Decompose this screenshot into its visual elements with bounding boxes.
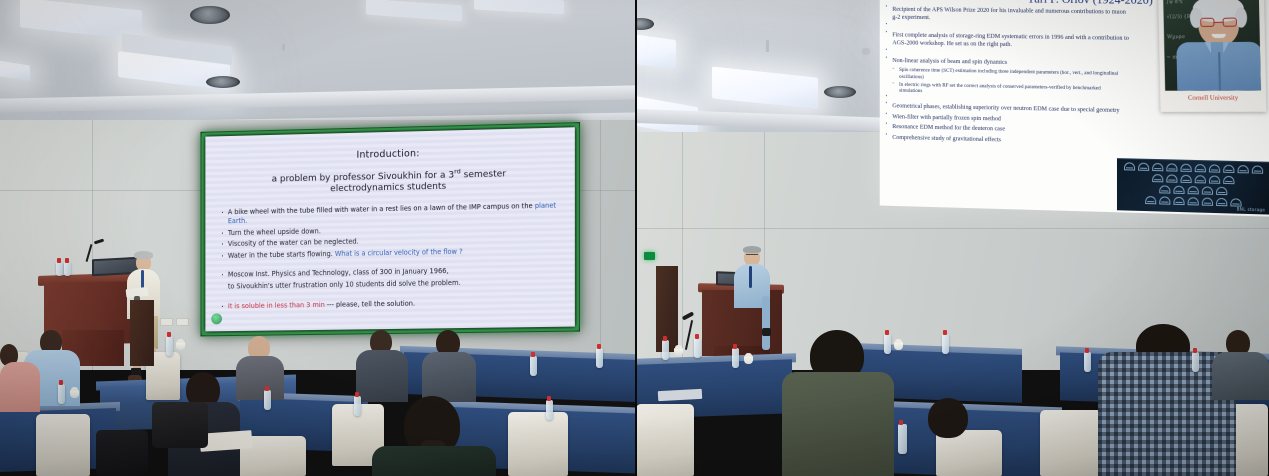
ceiling-panel-light	[0, 59, 30, 82]
lattice-cell	[1166, 163, 1177, 171]
bullet-highlight: What is a circular velocity of the flow …	[335, 247, 463, 257]
led-wall-screen: Introduction: a problem by professor Siv…	[201, 122, 580, 336]
lattice-cell	[1194, 164, 1205, 172]
water-bottle	[530, 356, 537, 376]
teacup	[70, 390, 79, 398]
bullet-text: Water in the tube starts flowing.	[228, 250, 335, 260]
lattice-cell	[1173, 186, 1184, 194]
ceiling-beam	[0, 85, 636, 112]
water-bottle	[264, 390, 271, 410]
portrait-caption: Cornell University	[1165, 95, 1261, 102]
presenter-glasses-icon	[746, 254, 758, 257]
lattice-cell	[1201, 197, 1212, 205]
slide-subtitle-post: semester	[461, 169, 506, 180]
lattice-cell	[1208, 175, 1219, 183]
water-bottle	[732, 348, 739, 368]
audience-head	[928, 398, 968, 438]
bullet-text: --- please, tell the solution.	[325, 299, 415, 308]
backpack	[96, 430, 148, 476]
water-bottle	[662, 340, 669, 360]
chair	[508, 412, 568, 476]
audience-torso	[372, 446, 496, 476]
water-bottle	[1084, 352, 1091, 372]
lattice-cell	[1251, 165, 1262, 173]
lattice-row	[1117, 184, 1269, 196]
slide-subtitle-line2: electrodynamics students	[330, 182, 446, 195]
wall-panel-dark	[130, 300, 154, 366]
water-bottle	[898, 424, 907, 454]
lattice-cell	[1152, 174, 1163, 182]
audience-torso	[356, 350, 408, 402]
ceiling-left	[0, 0, 636, 132]
wall-seam	[636, 228, 1269, 229]
portrait-collar	[1223, 42, 1229, 53]
bullet-text: Moscow Inst. Physics and Technology, cla…	[228, 267, 449, 279]
water-bottle	[64, 262, 71, 276]
lattice-cell	[1216, 198, 1227, 206]
bullet-text: to Sivoukhin's utter frustration only 10…	[228, 279, 461, 291]
teacup	[674, 348, 683, 356]
lattice-cell	[1187, 186, 1198, 194]
presenter-hair	[134, 251, 153, 259]
lattice-row	[1117, 173, 1269, 185]
water-bottle	[884, 334, 891, 354]
water-bottle	[58, 384, 65, 404]
exit-sign	[644, 252, 655, 260]
sprinkler-head	[282, 44, 285, 51]
slide-bullet-list: A bike wheel with the tube filled with w…	[219, 201, 561, 312]
lattice-cell	[1159, 196, 1170, 204]
bullet-text: Viscosity of the water can be neglected.	[228, 238, 359, 248]
projection-screen: Yuri F. Orlov (1924-2020) Recipient of t…	[880, 0, 1269, 217]
ceiling-vent	[636, 18, 654, 30]
lattice-diagram-panel: BNL storage	[1117, 158, 1269, 214]
presenter-wristwatch	[762, 328, 771, 336]
ceiling-vent	[190, 6, 230, 24]
lattice-cell	[1216, 187, 1227, 195]
ceiling-vent	[206, 76, 240, 88]
teacup	[744, 356, 753, 364]
lattice-row	[1117, 162, 1269, 174]
bullet-text: A bike wheel with the tube filled with w…	[228, 201, 535, 215]
water-bottle	[56, 262, 63, 276]
lattice-cell	[1159, 185, 1170, 193]
lattice-cell	[1223, 165, 1234, 173]
wall-seam	[600, 120, 601, 370]
water-bottle	[942, 334, 949, 354]
lattice-cell	[1138, 163, 1149, 171]
left-slide-content: Introduction: a problem by professor Siv…	[205, 127, 574, 331]
chair	[1040, 410, 1102, 476]
audience-torso	[0, 362, 40, 412]
portrait-glasses-icon	[1200, 18, 1237, 27]
backpack	[152, 402, 208, 448]
slide-bullet: Recipient of the APS Wilson Prize 2020 f…	[886, 6, 1130, 25]
portrait-collar	[1205, 42, 1211, 53]
portrait-smile	[1212, 34, 1226, 38]
lattice-cell	[1237, 165, 1248, 173]
water-bottle	[1192, 352, 1199, 372]
sprinkler-head	[862, 48, 870, 55]
chalk-formula: ∫ψ d³x	[1166, 0, 1182, 5]
ceiling-vent	[824, 86, 856, 98]
screen-corner-logo-icon	[211, 313, 222, 324]
teacup	[894, 342, 903, 350]
wall-seam	[682, 132, 683, 370]
lattice-cell	[1124, 162, 1135, 170]
wall-outlet	[176, 318, 189, 326]
presenter-arm	[762, 296, 770, 350]
screenshot-root: Introduction: a problem by professor Siv…	[0, 0, 1269, 476]
sprinkler-head	[766, 40, 769, 52]
slide-subtitle: a problem by professor Sivoukhin for a 3…	[219, 165, 561, 198]
lattice-cell	[1145, 196, 1156, 204]
water-bottle	[354, 396, 361, 416]
audience-torso	[236, 356, 284, 400]
photo-divider	[635, 0, 637, 476]
lattice-cell	[1180, 175, 1191, 183]
right-slide-content: Yuri F. Orlov (1924-2020) Recipient of t…	[880, 0, 1269, 217]
audience-torso	[782, 372, 894, 476]
left-conference-photo: Introduction: a problem by professor Siv…	[0, 0, 636, 476]
ceiling-panel-light	[636, 32, 676, 70]
bullet-text: Turn the wheel upside down.	[228, 227, 321, 237]
orlov-photo: ∫ψ d³x √(2/3) {R₁(ζσ)} Wµνρσ ~ mγ⁴ μ¹	[1163, 0, 1261, 91]
chalk-formula: Wµνρσ	[1167, 34, 1185, 40]
lattice-panel-tag: BNL storage	[1237, 207, 1265, 213]
chair	[36, 414, 90, 476]
water-bottle	[546, 400, 553, 420]
lattice-cell	[1201, 186, 1212, 194]
lattice-row	[1117, 195, 1269, 207]
lattice-cell	[1208, 164, 1219, 172]
water-bottle	[166, 336, 173, 356]
ceiling-panel-light-dim	[474, 0, 564, 14]
wall-outlet	[160, 318, 173, 326]
ceiling-panel-light	[712, 66, 818, 109]
lattice-cell	[1223, 176, 1234, 184]
audience-torso	[1212, 352, 1269, 400]
water-bottle	[694, 338, 701, 358]
bullet-highlight: It is soluble in less than 3 min	[228, 301, 325, 310]
lattice-cell	[1194, 175, 1205, 183]
presenter-hair	[743, 246, 761, 253]
lattice-cell	[1187, 197, 1198, 205]
ceiling-panel-light-dim	[366, 0, 462, 21]
lattice-cell	[1173, 197, 1184, 205]
lattice-cell	[1166, 174, 1177, 182]
water-bottle	[596, 348, 603, 368]
slide-title: Introduction:	[219, 145, 561, 164]
lattice-cell	[1180, 164, 1191, 172]
presenter-lanyard	[749, 266, 752, 288]
lattice-cell	[1152, 163, 1163, 171]
audience-torso	[422, 352, 476, 402]
slide-bullet: First complete analysis of storage-ring …	[886, 31, 1130, 50]
teacup	[176, 342, 185, 350]
lattice-cell	[1230, 198, 1241, 206]
chair	[636, 404, 694, 476]
right-conference-photo: Yuri F. Orlov (1924-2020) Recipient of t…	[636, 0, 1269, 476]
orlov-portrait-card: ∫ψ d³x √(2/3) {R₁(ζσ)} Wµνρσ ~ mγ⁴ μ¹	[1158, 0, 1266, 112]
